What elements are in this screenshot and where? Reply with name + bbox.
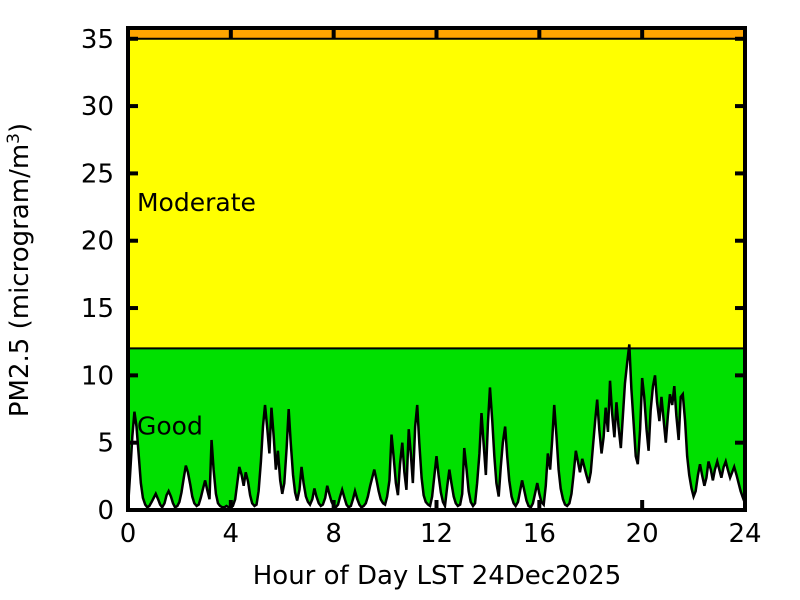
aqi-band-label-moderate: Moderate [137,188,256,217]
y-tick-label-0: 0 [97,496,114,526]
y-tick-label-35: 35 [81,25,114,55]
x-tick-label-16: 16 [523,519,556,549]
chart-svg: GoodModerate 05101520253035 04812162024 … [0,0,800,600]
x-tick-label-0: 0 [120,519,137,549]
y-tick-label-5: 5 [97,429,114,459]
y-tick-label-25: 25 [81,159,114,189]
aqi-band-label-good: Good [137,412,203,441]
y-tick-label-30: 30 [81,92,114,122]
y-tick-label-20: 20 [81,227,114,257]
y-tick-label-10: 10 [81,361,114,391]
y-axis-title-superscript: 3 [4,133,24,144]
pm25-chart-figure: GoodModerate 05101520253035 04812162024 … [0,0,800,600]
x-tick-label-8: 8 [325,519,342,549]
x-tick-label-24: 24 [728,519,761,549]
x-tick-label-20: 20 [626,519,659,549]
y-tick-label-15: 15 [81,294,114,324]
x-axis-title: Hour of Day LST 24Dec2025 [253,561,622,591]
y-axis-title: PM2.5 (microgram/m3) [4,123,35,417]
y-axis-title-tail: ) [5,123,35,133]
x-tick-label-12: 12 [420,519,453,549]
y-axis-title-main: PM2.5 (microgram/m [5,144,35,417]
x-tick-label-4: 4 [223,519,240,549]
